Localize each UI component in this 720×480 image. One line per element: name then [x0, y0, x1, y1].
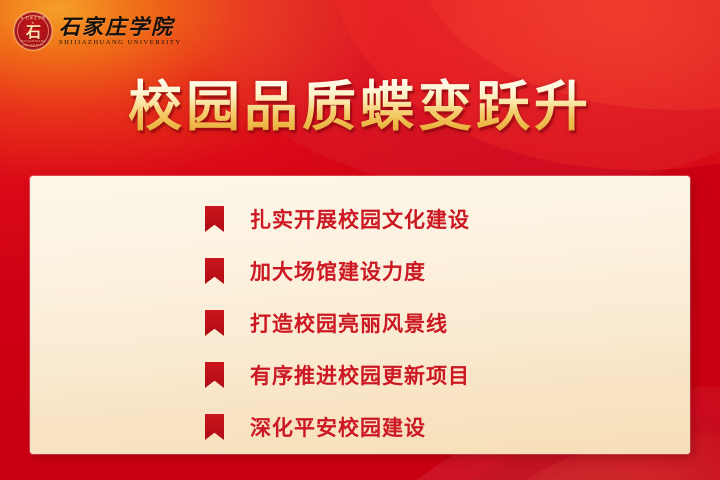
bookmark-icon [205, 414, 224, 440]
list-item: 打造校园亮丽风景线 [30, 297, 690, 349]
list-item-label: 打造校园亮丽风景线 [250, 308, 448, 338]
list-item: 深化平安校园建设 [30, 401, 690, 453]
list-item-label: 有序推进校园更新项目 [250, 360, 470, 390]
list-item-label: 扎实开展校园文化建设 [250, 204, 470, 234]
university-name-block: 石家庄学院 SHIJIAZHUANG UNIVERSITY [59, 16, 182, 47]
list-item-label: 深化平安校园建设 [250, 412, 426, 442]
bookmark-icon [205, 362, 224, 388]
page-title-container: 校园品质蝶变跃升 [0, 78, 720, 136]
list-item-label: 加大场馆建设力度 [250, 256, 426, 286]
university-logo-lockup: ★ 石家庄学院 ★ 石 SHIJIAZHUANG UNIVERSITY 石家庄学… [14, 12, 182, 50]
bookmark-icon [205, 258, 224, 284]
list-item: 扎实开展校园文化建设 [30, 193, 690, 245]
content-card: 扎实开展校园文化建设 加大场馆建设力度 打造校园亮丽风景线 有序推进校园更新项目… [30, 176, 690, 454]
university-seal-icon: ★ 石家庄学院 ★ 石 SHIJIAZHUANG UNIVERSITY [14, 12, 52, 50]
list-item: 有序推进校园更新项目 [30, 349, 690, 401]
poster-canvas: ★ 石家庄学院 ★ 石 SHIJIAZHUANG UNIVERSITY 石家庄学… [0, 0, 720, 480]
bookmark-icon [205, 310, 224, 336]
bookmark-icon [205, 206, 224, 232]
page-title: 校园品质蝶变跃升 [128, 78, 592, 136]
university-name-en: SHIJIAZHUANG UNIVERSITY [59, 40, 182, 47]
university-name-cn: 石家庄学院 [59, 16, 182, 37]
seal-arc-bottom-text: SHIJIAZHUANG UNIVERSITY [19, 39, 47, 47]
list-item: 加大场馆建设力度 [30, 245, 690, 297]
bullet-list: 扎实开展校园文化建设 加大场馆建设力度 打造校园亮丽风景线 有序推进校园更新项目… [30, 193, 690, 453]
